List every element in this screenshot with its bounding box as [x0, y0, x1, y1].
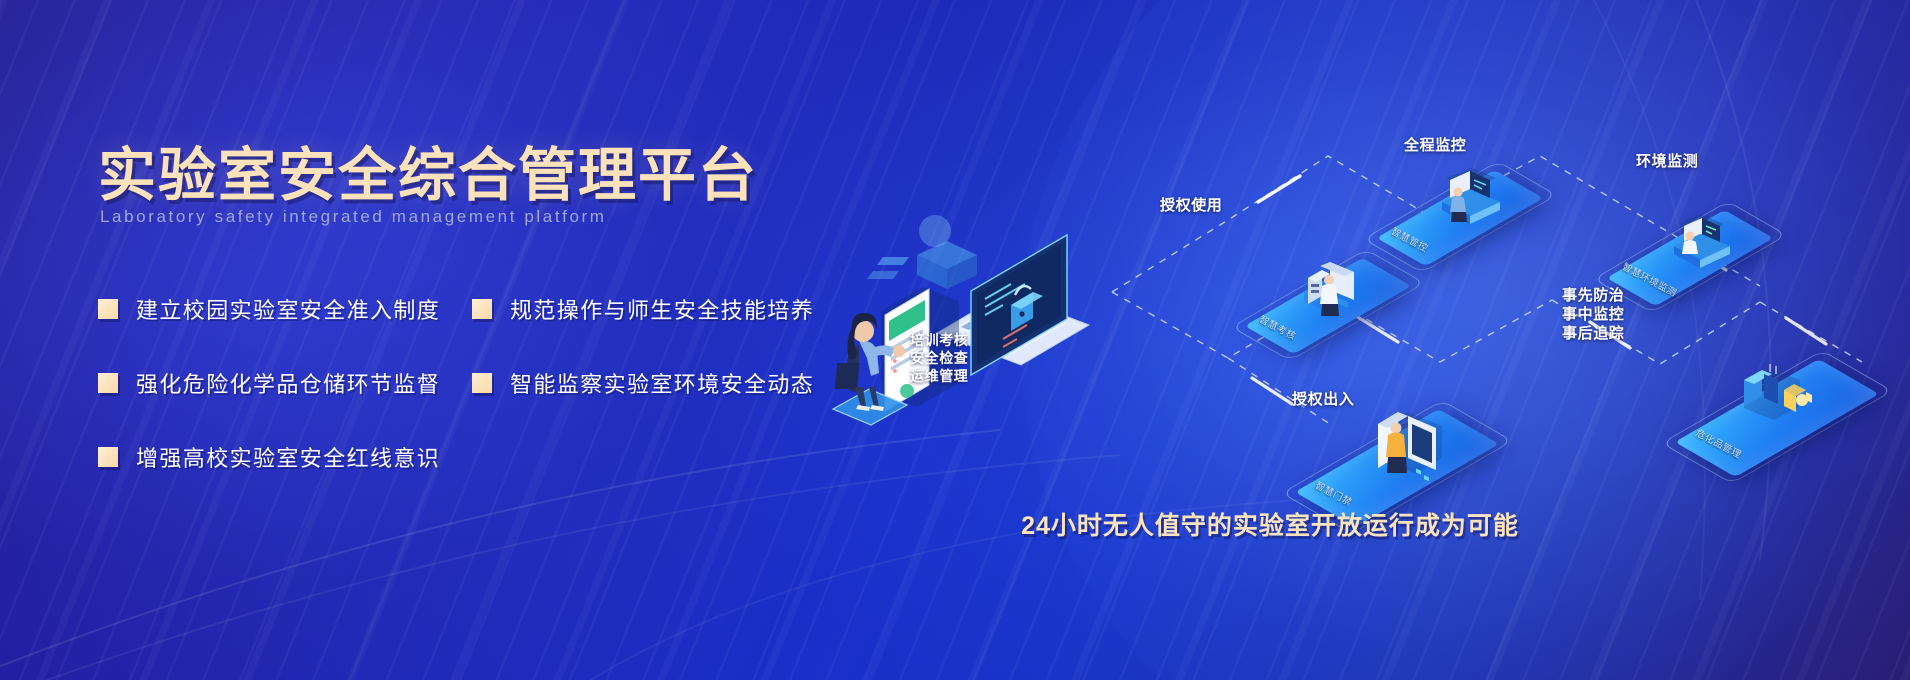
list-item-label: 增强高校实验室安全红线意识 [136, 441, 440, 473]
list-item-label: 建立校园实验室安全准入制度 [136, 293, 440, 325]
square-bullet-icon [98, 447, 118, 467]
list-item-label: 规范操作与师生安全技能培养 [510, 293, 814, 325]
list-item: 智能监察实验室环境安全动态 [472, 367, 814, 399]
list-item: 建立校园实验室安全准入制度 [98, 293, 472, 325]
square-bullet-icon [472, 373, 492, 393]
node-illustration-cabinet [1274, 250, 1386, 326]
diagram-node-chemical-management: 危化品管理 [1680, 350, 1880, 480]
diagram-caption: 24小时无人值守的实验室开放运行成为可能 [1010, 506, 1530, 542]
page-subtitle: Laboratory safety integrated management … [100, 207, 607, 227]
label-line: 事后追踪 [1562, 324, 1624, 343]
list-item-label: 强化危险化学品仓储环节监督 [136, 367, 440, 399]
diagram-label-prevention-stack: 事先防治 事中监控 事后追踪 [1562, 286, 1624, 344]
page-title: 实验室安全综合管理平台 [98, 128, 758, 212]
diagram-label-environment-monitoring: 环境监测 [1636, 152, 1698, 171]
label-line: 安全检查 [910, 350, 968, 368]
feature-list: 建立校园实验室安全准入制度 规范操作与师生安全技能培养 强化危险化学品仓储环节监… [98, 272, 858, 494]
square-bullet-icon [472, 299, 492, 319]
square-bullet-icon [98, 299, 118, 319]
square-bullet-icon [98, 373, 118, 393]
banner-hero: 实验室安全综合管理平台 Laboratory safety integrated… [0, 0, 1910, 680]
list-item: 规范操作与师生安全技能培养 [472, 293, 814, 325]
feature-row: 增强高校实验室安全红线意识 [98, 420, 858, 494]
list-item: 强化危险化学品仓储环节监督 [98, 367, 472, 399]
node-illustration-chemicals [1710, 346, 1846, 442]
label-line: 事中监控 [1562, 305, 1624, 324]
list-item-label: 智能监察实验室环境安全动态 [510, 367, 814, 399]
diagram-node-full-monitoring: 智慧管控 [1380, 162, 1540, 270]
label-line: 培训考核 [910, 332, 968, 350]
list-item: 增强高校实验室安全红线意识 [98, 441, 472, 473]
label-line: 事先防治 [1562, 286, 1624, 305]
architecture-diagram: 培训考核 安全检查 运维管理 智慧考核 [1000, 100, 1910, 570]
node-illustration-control-room [1406, 162, 1518, 238]
diagram-node-environment-monitoring: 智慧环境监测 [1610, 202, 1770, 310]
diagram-label-authorized-use: 授权使用 [1160, 196, 1222, 215]
node-illustration-sensor-desk [1636, 202, 1748, 278]
diagram-label-training: 培训考核 安全检查 运维管理 [910, 332, 968, 386]
diagram-label-full-monitoring: 全程监控 [1404, 136, 1466, 155]
feature-row: 强化危险化学品仓储环节监督 智能监察实验室环境安全动态 [98, 346, 858, 420]
label-line: 运维管理 [910, 368, 968, 386]
diagram-label-access-control: 授权出入 [1292, 390, 1354, 409]
feature-row: 建立校园实验室安全准入制度 规范操作与师生安全技能培养 [98, 272, 858, 346]
user-training-illustration [825, 195, 1065, 425]
